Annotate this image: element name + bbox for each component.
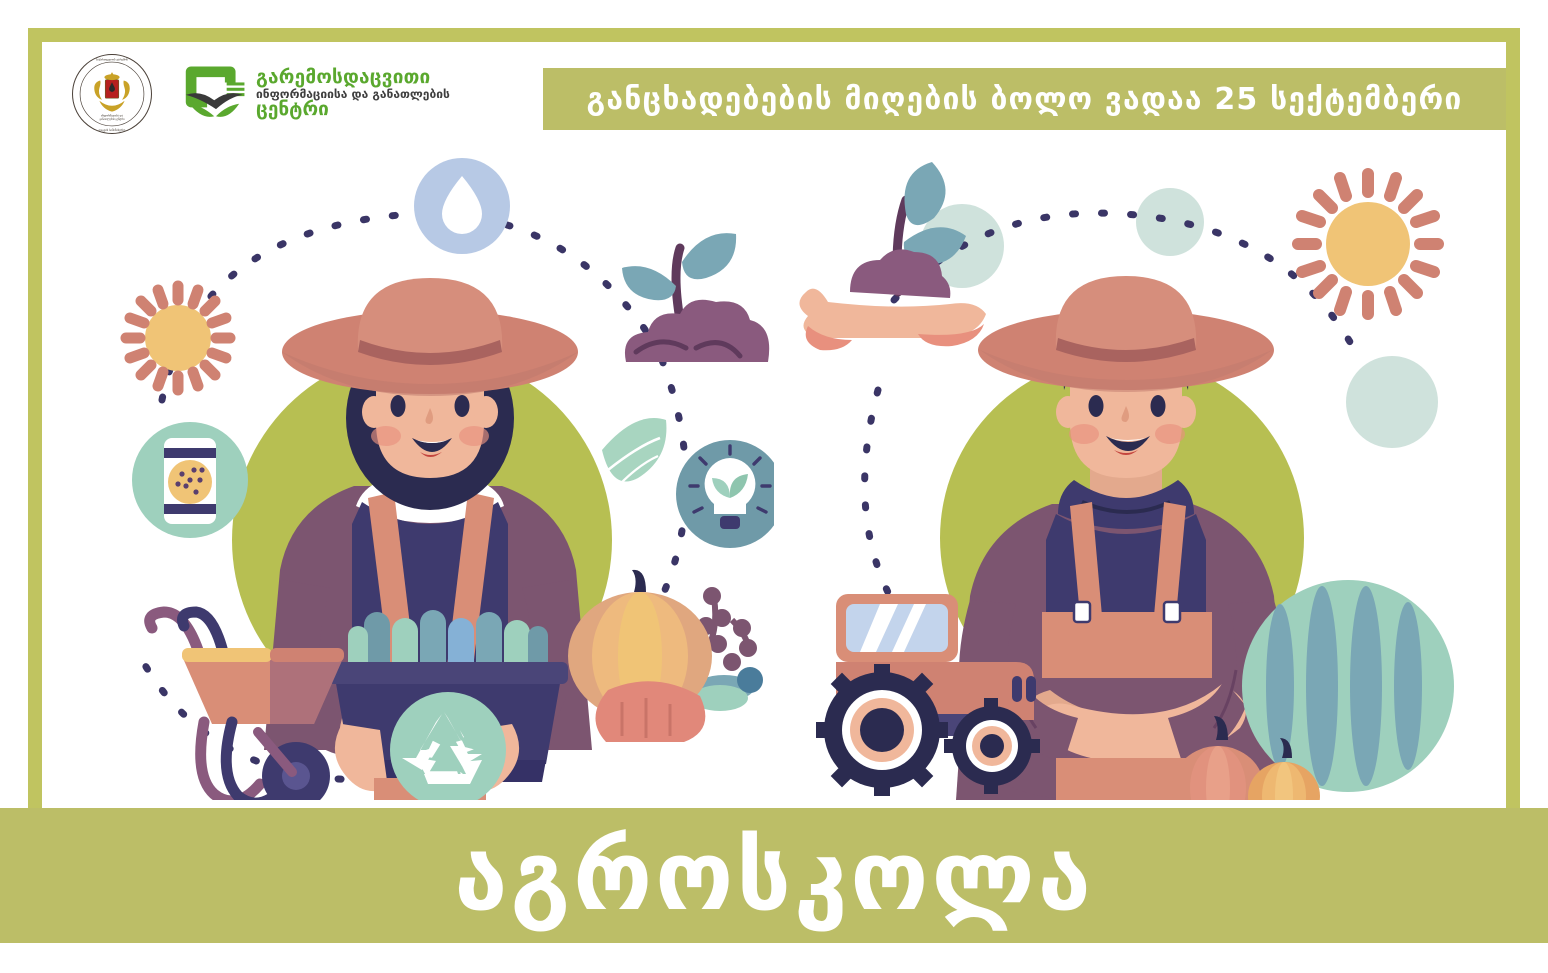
poster-title: აგროსკოლა [454,820,1093,932]
decorative-circle [1136,188,1204,256]
right-scene [774,150,1506,800]
header-logo-row: საქართველოს გარემოს დაცვის სამინისტრო ინ… [70,52,450,136]
georgian-coat-of-arms-seal: საქართველოს გარემოს დაცვის სამინისტრო ინ… [70,52,154,136]
sun-icon [1298,174,1438,314]
open-book-logo [184,62,248,126]
illustration-stage [42,150,1506,800]
svg-text:ინფორმაციისა და: ინფორმაციისა და [101,114,124,118]
water-drop-icon [414,158,510,254]
frame-border-top [28,28,1520,42]
decorative-circle [1346,356,1438,448]
tractor-wheel-rear [816,664,948,796]
poster-root: საქართველოს გარემოს დაცვის სამინისტრო ინ… [0,0,1548,973]
org-name-line3: ცენტრი [256,100,450,120]
eco-lightbulb-icon [676,440,774,548]
deadline-text: განცხადებების მიღების ბოლო ვადაა 25 სექტ… [587,82,1463,117]
sprout-in-soil-icon [622,233,769,362]
sun-icon [126,286,230,390]
frame-border-right [1506,28,1520,908]
org-name-line1: გარემოსდაცვითი [256,68,450,88]
svg-text:დაცვის სამინისტრო: დაცვის სამინისტრო [99,128,126,132]
seed-jar-icon [132,422,248,538]
leaf-icon [602,418,666,484]
female-farmer-composition [42,150,774,800]
footer-banner: აგროსკოლა [0,808,1548,943]
svg-text:საქართველოს გარემოს: საქართველოს გარემოს [96,57,129,61]
male-farmer-composition [774,150,1506,800]
svg-text:განათლების ცენტრი: განათლების ცენტრი [100,117,126,121]
environmental-center-logo: გარემოსდაცვითი ინფორმაციისა და განათლები… [184,62,450,126]
deadline-banner: განცხადებების მიღების ბოლო ვადაა 25 სექტ… [543,68,1506,130]
frame-border-left [28,28,42,908]
left-scene [42,150,774,800]
